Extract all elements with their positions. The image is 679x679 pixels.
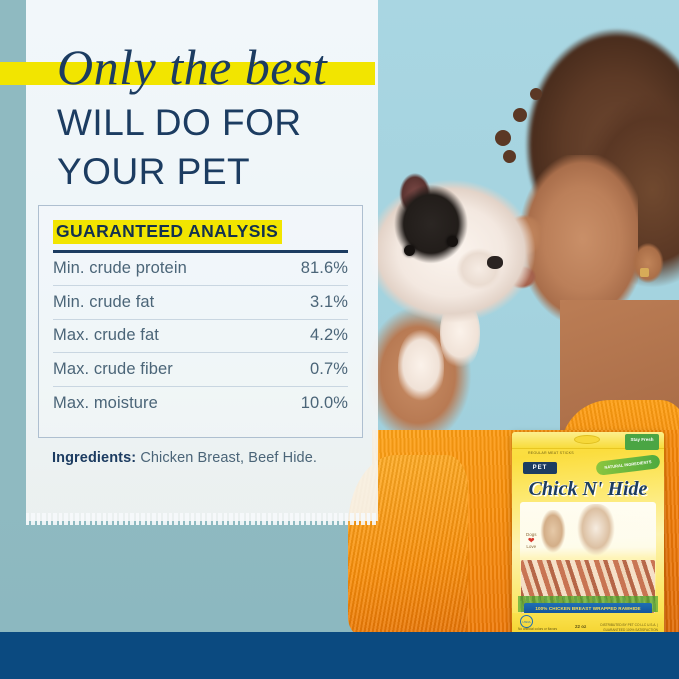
row-label: Min. crude protein — [53, 259, 187, 278]
table-row: Max. crude fat 4.2% — [53, 320, 348, 354]
package-hang-hole — [574, 435, 600, 444]
hearts-bottom-text: Love — [526, 544, 537, 550]
card-torn-edge — [26, 513, 378, 525]
hair-curl-icon — [530, 88, 542, 100]
row-value: 81.6% — [301, 259, 348, 278]
headline-script: Only the best — [57, 38, 327, 96]
hair-curl-icon — [513, 108, 527, 122]
headline-caps-line-2: YOUR PET — [57, 149, 378, 196]
headline-caps-line-1: WILL DO FOR — [57, 100, 378, 147]
dog-snout — [455, 245, 505, 293]
package-dog-terrier — [574, 504, 618, 568]
model-ear — [630, 240, 666, 286]
row-label: Min. crude fat — [53, 293, 154, 312]
package-fine-print-right: DISTRIBUTED BY PET CO LLC U.S.A. | GUARA… — [600, 623, 658, 632]
package-brand-mark: PET — [523, 462, 557, 474]
guaranteed-analysis-box: GUARANTEED ANALYSIS Min. crude protein 8… — [38, 205, 363, 438]
package-dog-chihuahua — [538, 510, 568, 562]
row-label: Max. crude fiber — [53, 360, 173, 379]
row-value: 10.0% — [301, 394, 348, 413]
dog-eye — [447, 236, 458, 247]
earring-icon — [640, 268, 649, 277]
ingredients-line: Ingredients: Chicken Breast, Beef Hide. — [52, 450, 372, 466]
analysis-rows: Min. crude protein 81.6% Min. crude fat … — [53, 253, 348, 421]
ingredients-text: Chicken Breast, Beef Hide. — [136, 450, 317, 466]
package-green-band: NATURAL INGREDIENTS — [595, 454, 660, 476]
package-hearts-callout: Dogs ❤ Love — [526, 532, 537, 550]
row-value: 3.1% — [310, 293, 348, 312]
stay-fresh-badge: Stay Fresh — [625, 434, 659, 450]
dog-eye — [404, 245, 415, 256]
row-value: 0.7% — [310, 360, 348, 379]
hair-curl-icon — [495, 130, 511, 146]
headline-script-band: Only the best — [0, 40, 378, 98]
row-label: Max. crude fat — [53, 326, 159, 345]
headline-block: Only the best WILL DO FOR YOUR PET — [0, 40, 378, 195]
product-package: Stay Fresh REGULAR MEAT STICKS NATURAL I… — [512, 432, 664, 640]
ingredients-label: Ingredients: — [52, 450, 136, 466]
table-row: Min. crude fat 3.1% — [53, 286, 348, 320]
package-title: Chick N' Hide — [522, 476, 654, 502]
row-value: 4.2% — [310, 326, 348, 345]
dog-nose — [487, 256, 503, 269]
dog-paw — [398, 330, 444, 408]
table-row: Max. moisture 10.0% — [53, 387, 348, 421]
table-row: Min. crude protein 81.6% — [53, 253, 348, 287]
package-weight: 22 oz — [575, 624, 586, 629]
analysis-heading: GUARANTEED ANALYSIS — [53, 220, 282, 244]
package-top-code: REGULAR MEAT STICKS — [528, 451, 574, 455]
quality-seal-icon: USDA — [520, 615, 533, 628]
row-label: Max. moisture — [53, 394, 158, 413]
bottom-navy-band — [0, 632, 679, 679]
table-row: Max. crude fiber 0.7% — [53, 353, 348, 387]
